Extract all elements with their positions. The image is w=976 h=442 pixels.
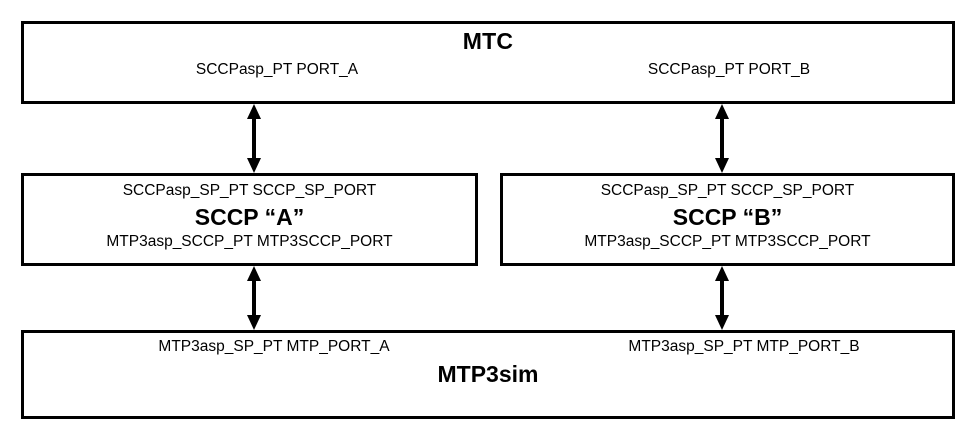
- node-sccp-b[interactable]: SCCPasp_SP_PT SCCP_SP_PORT SCCP “B” MTP3…: [500, 173, 955, 266]
- node-sccp-a-title: SCCP “A”: [24, 204, 475, 231]
- port-label-sccp-b-top: SCCPasp_SP_PT SCCP_SP_PORT: [503, 182, 952, 200]
- double-arrow-icon: [244, 104, 264, 173]
- port-label-mtp-port-b: MTP3asp_SP_PT MTP_PORT_B: [579, 338, 909, 356]
- port-label-sccp-a-top: SCCPasp_SP_PT SCCP_SP_PORT: [24, 182, 475, 200]
- double-arrow-icon: [244, 266, 264, 330]
- node-mtp3sim[interactable]: MTP3asp_SP_PT MTP_PORT_A MTP3asp_SP_PT M…: [21, 330, 955, 419]
- connector-sccp-a-to-mtp3sim: [244, 266, 264, 330]
- diagram-canvas: MTC SCCPasp_PT PORT_A SCCPasp_PT PORT_B …: [0, 0, 976, 442]
- connector-sccp-b-to-mtp3sim: [712, 266, 732, 330]
- port-label-mtc-port-a: SCCPasp_PT PORT_A: [132, 61, 422, 79]
- port-label-sccp-b-bottom: MTP3asp_SCCP_PT MTP3SCCP_PORT: [503, 233, 952, 251]
- double-arrow-icon: [712, 104, 732, 173]
- connector-mtc-to-sccp-b: [712, 104, 732, 173]
- double-arrow-icon: [712, 266, 732, 330]
- port-label-mtc-port-b: SCCPasp_PT PORT_B: [584, 61, 874, 79]
- connector-mtc-to-sccp-a: [244, 104, 264, 173]
- port-label-mtp-port-a: MTP3asp_SP_PT MTP_PORT_A: [109, 338, 439, 356]
- node-sccp-a[interactable]: SCCPasp_SP_PT SCCP_SP_PORT SCCP “A” MTP3…: [21, 173, 478, 266]
- port-label-sccp-a-bottom: MTP3asp_SCCP_PT MTP3SCCP_PORT: [24, 233, 475, 251]
- node-mtp3sim-title: MTP3sim: [24, 361, 952, 388]
- node-sccp-b-title: SCCP “B”: [503, 204, 952, 231]
- node-mtc-title: MTC: [24, 28, 952, 55]
- node-mtc[interactable]: MTC SCCPasp_PT PORT_A SCCPasp_PT PORT_B: [21, 21, 955, 104]
